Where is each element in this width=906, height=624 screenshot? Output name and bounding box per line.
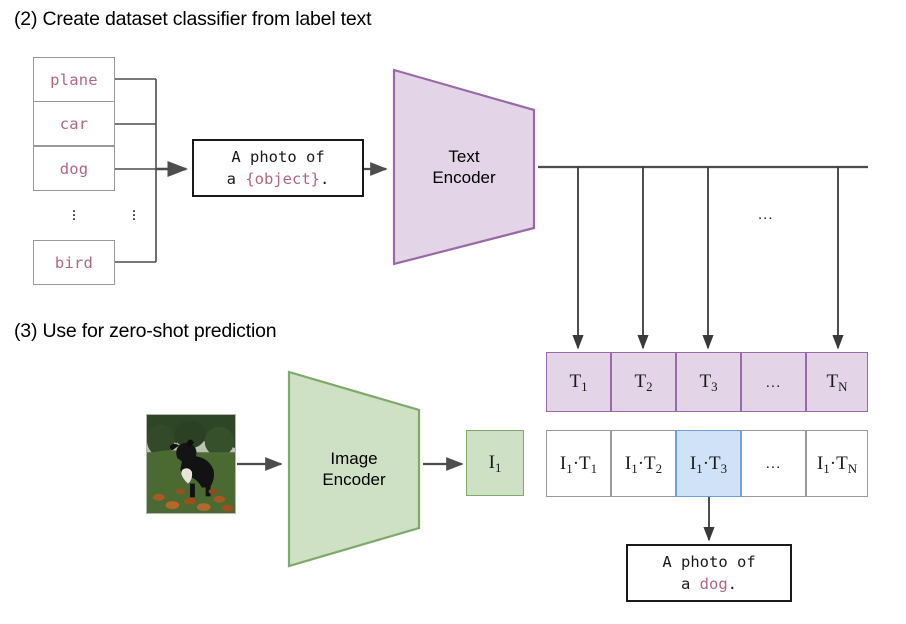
prediction-class-word: dog (700, 575, 728, 593)
bus-ellipsis: ... (758, 206, 774, 223)
text-embedding-ellipsis: ... (766, 374, 782, 391)
label-item-text: plane (50, 71, 98, 89)
text-embedding-cell-n[interactable]: TN (806, 352, 868, 412)
similarity-ellipsis: ... (766, 455, 782, 472)
label-list-ellipsis-left: ... (69, 205, 79, 217)
prediction-line-2-prefix: a (681, 575, 700, 593)
input-photo-thumbnail[interactable] (146, 414, 236, 514)
input-photo-image (147, 415, 235, 513)
image-embedding-box[interactable]: I1 (466, 430, 524, 496)
similarity-cell-3-selected[interactable]: I1·T3 (676, 430, 741, 497)
text-embedding-cell-1[interactable]: T1 (546, 352, 611, 412)
similarity-cell-3-label: I1·T3 (690, 453, 727, 475)
text-embedding-cell-1-label: T1 (569, 371, 587, 393)
text-embedding-cell-n-label: TN (827, 371, 848, 393)
image-encoder-shape (285, 368, 423, 570)
step3-heading: (3) Use for zero-shot prediction (14, 320, 276, 343)
prompt-template-box: A photo of a {object}. (192, 139, 364, 197)
similarity-cell-2-label: I1·T2 (625, 453, 662, 475)
prompt-line-1: A photo of (231, 146, 324, 168)
text-encoder-shape (390, 66, 538, 268)
label-item-dog[interactable]: dog (33, 146, 115, 191)
similarity-cell-1[interactable]: I1·T1 (546, 430, 611, 497)
label-item-text: dog (60, 160, 89, 178)
prediction-output-box: A photo of a dog. (626, 544, 792, 602)
text-encoder-block[interactable]: Text Encoder (390, 66, 538, 268)
label-item-text: car (60, 115, 89, 133)
label-item-car[interactable]: car (33, 101, 115, 146)
image-embedding-label: I1 (489, 452, 502, 474)
diagram-canvas: (2) Create dataset classifier from label… (0, 0, 906, 624)
text-embedding-cell-2[interactable]: T2 (611, 352, 676, 412)
label-item-bird[interactable]: bird (33, 240, 115, 285)
prompt-line-2-prefix: a (227, 170, 246, 188)
similarity-cell-1-label: I1·T1 (560, 453, 597, 475)
label-item-plane[interactable]: plane (33, 57, 115, 102)
text-embedding-cell-3[interactable]: T3 (676, 352, 741, 412)
step2-heading: (2) Create dataset classifier from label… (14, 8, 371, 31)
text-embedding-cell-ellipsis: ... (741, 352, 806, 412)
prompt-object-slot: {object} (245, 170, 320, 188)
prediction-line-2-suffix: . (728, 575, 737, 593)
similarity-cell-n[interactable]: I1·TN (806, 430, 868, 497)
text-embedding-cell-3-label: T3 (699, 371, 717, 393)
prompt-line-2: a {object}. (227, 168, 330, 190)
prompt-line-2-suffix: . (320, 170, 329, 188)
label-item-text: bird (55, 254, 93, 272)
text-embedding-cell-2-label: T2 (634, 371, 652, 393)
prediction-line-2: a dog. (681, 573, 737, 595)
image-encoder-block[interactable]: Image Encoder (285, 368, 423, 570)
label-list-ellipsis-right: ... (129, 205, 139, 217)
similarity-cell-n-label: I1·TN (817, 453, 857, 475)
prediction-line-1: A photo of (662, 551, 755, 573)
similarity-cell-2[interactable]: I1·T2 (611, 430, 676, 497)
similarity-cell-ellipsis: ... (741, 430, 806, 497)
